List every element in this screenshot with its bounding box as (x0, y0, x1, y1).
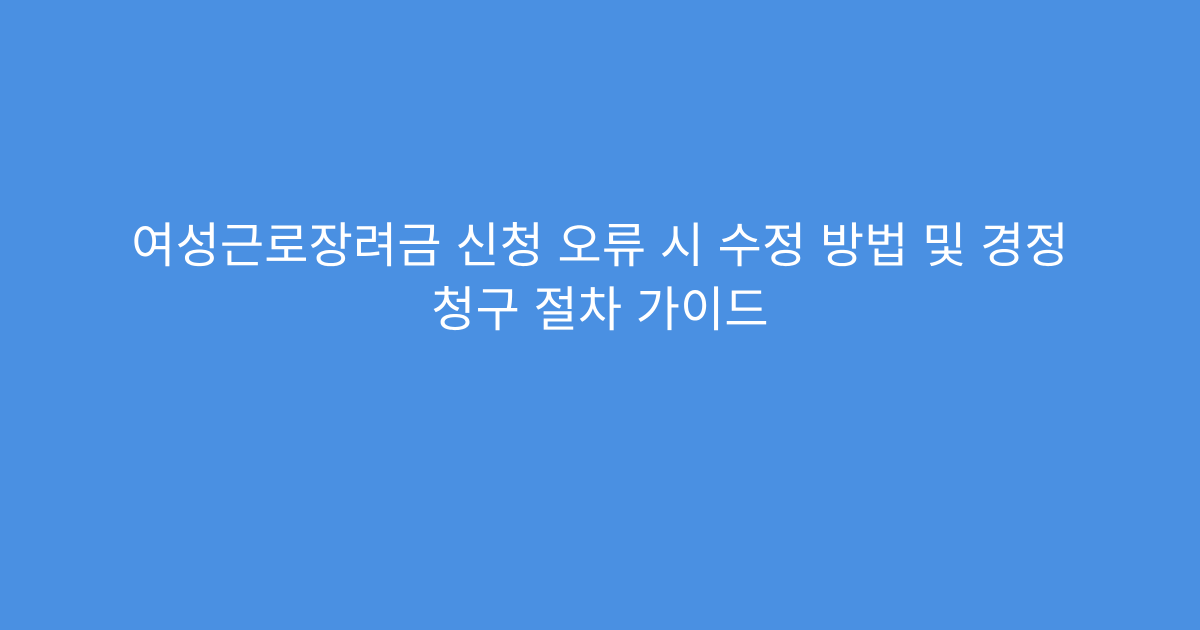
og-banner-card: 여성근로장려금 신청 오류 시 수정 방법 및 경정 청구 절차 가이드 (0, 0, 1200, 630)
title-block: 여성근로장려금 신청 오류 시 수정 방법 및 경정 청구 절차 가이드 (0, 215, 1200, 343)
page-title: 여성근로장려금 신청 오류 시 수정 방법 및 경정 청구 절차 가이드 (56, 215, 1144, 343)
